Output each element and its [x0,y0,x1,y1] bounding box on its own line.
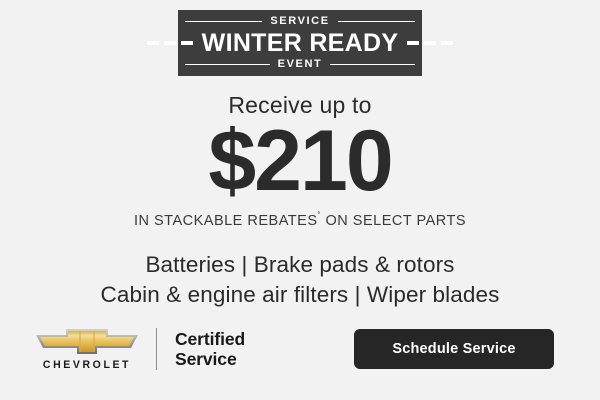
badge-title: WINTER READY [202,31,399,56]
certified-service-label: Certified Service [175,329,245,369]
badge-kicker-bottom: EVENT [278,59,323,70]
badge-kicker-bottom-row: EVENT [178,56,422,73]
badge-rule-left-top [185,21,262,22]
brand-lockup: CHEVROLET Certified Service [32,318,245,380]
chevrolet-wordmark: CHEVROLET [43,359,131,370]
event-badge: SERVICE WINTER READY EVENT [178,10,422,76]
dashes-left-icon [147,41,193,45]
brand-divider [156,328,157,370]
badge-rule-right-top [338,21,415,22]
badge-title-row: WINTER READY [178,30,422,56]
footer: CHEVROLET Certified Service Schedule Ser… [0,318,600,380]
badge-kicker-top: SERVICE [270,16,329,27]
parts-list-line-2: Cabin & engine air filters | Wiper blade… [0,280,600,310]
chevrolet-logo: CHEVROLET [32,328,142,371]
offer-terms-text: IN STACKABLE REBATES [134,213,318,229]
certified-service-line-2: Service [175,349,245,369]
badge-rule-right-bottom [330,64,415,65]
offer-amount: $210 [0,118,600,204]
offer-terms-tail: ON SELECT PARTS [321,213,466,229]
chevrolet-bowtie-icon [33,328,141,355]
offer-terms: IN STACKABLE REBATES˚ ON SELECT PARTS [0,214,600,229]
schedule-service-button[interactable]: Schedule Service [354,329,554,369]
badge-kicker-top-row: SERVICE [178,13,422,30]
dashes-right-icon [407,41,453,45]
parts-list: Batteries | Brake pads & rotors Cabin & … [0,250,600,310]
certified-service-line-1: Certified [175,329,245,349]
badge-rule-left-bottom [185,64,270,65]
winter-ready-service-ad: SERVICE WINTER READY EVENT Receive up to… [0,0,600,400]
parts-list-line-1: Batteries | Brake pads & rotors [0,250,600,280]
